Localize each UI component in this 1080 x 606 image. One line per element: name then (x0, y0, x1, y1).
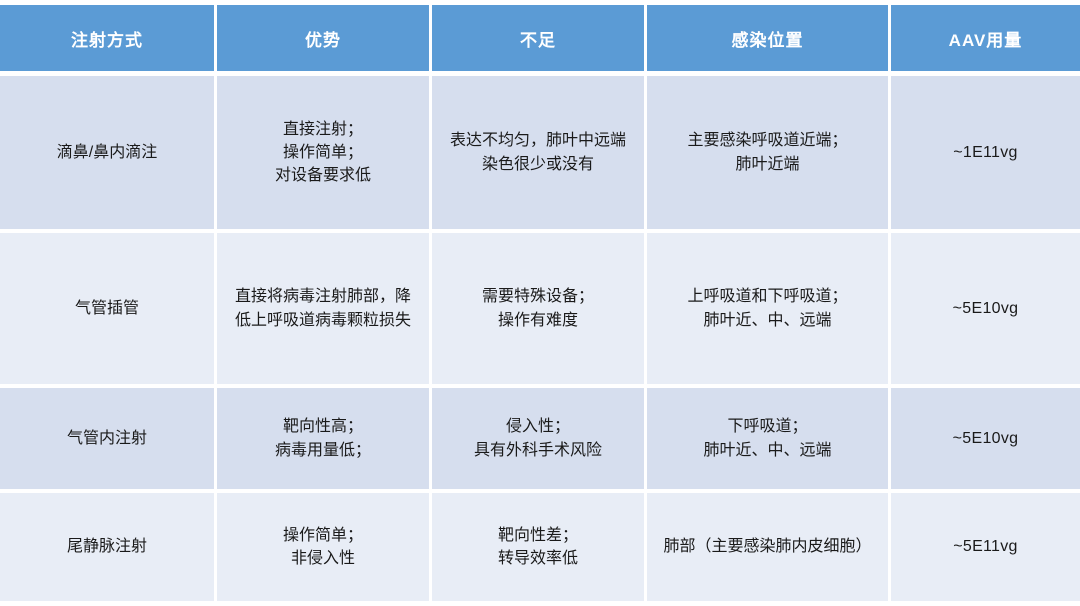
table-row: 气管内注射 靶向性高； 病毒用量低； 侵入性； 具有外科手术风险 下呼吸道； 肺… (0, 388, 1080, 493)
cell-disadvantages: 侵入性； 具有外科手术风险 (432, 388, 647, 493)
cell-infection-site: 下呼吸道； 肺叶近、中、远端 (647, 388, 891, 493)
table-header: 注射方式 优势 不足 感染位置 AAV用量 (0, 5, 1080, 76)
column-header-disadvantages: 不足 (432, 5, 647, 76)
cell-method: 气管插管 (0, 233, 217, 388)
table-header-row: 注射方式 优势 不足 感染位置 AAV用量 (0, 5, 1080, 76)
column-header-aav-dose: AAV用量 (891, 5, 1080, 76)
column-header-infection-site: 感染位置 (647, 5, 891, 76)
table-row: 气管插管 直接将病毒注射肺部，降 低上呼吸道病毒颗粒损失 需要特殊设备； 操作有… (0, 233, 1080, 388)
cell-advantages: 靶向性高； 病毒用量低； (217, 388, 432, 493)
cell-advantages: 直接将病毒注射肺部，降 低上呼吸道病毒颗粒损失 (217, 233, 432, 388)
cell-disadvantages: 需要特殊设备； 操作有难度 (432, 233, 647, 388)
table-row: 尾静脉注射 操作简单； 非侵入性 靶向性差； 转导效率低 肺部（主要感染肺内皮细… (0, 493, 1080, 601)
cell-aav-dose: ~1E11vg (891, 76, 1080, 233)
cell-method: 尾静脉注射 (0, 493, 217, 601)
cell-method: 滴鼻/鼻内滴注 (0, 76, 217, 233)
cell-disadvantages: 表达不均匀，肺叶中远端 染色很少或没有 (432, 76, 647, 233)
cell-advantages: 操作简单； 非侵入性 (217, 493, 432, 601)
cell-aav-dose: ~5E10vg (891, 388, 1080, 493)
cell-disadvantages: 靶向性差； 转导效率低 (432, 493, 647, 601)
cell-method: 气管内注射 (0, 388, 217, 493)
table-body: 滴鼻/鼻内滴注 直接注射； 操作简单； 对设备要求低 表达不均匀，肺叶中远端 染… (0, 76, 1080, 601)
column-header-method: 注射方式 (0, 5, 217, 76)
cell-infection-site: 上呼吸道和下呼吸道； 肺叶近、中、远端 (647, 233, 891, 388)
cell-aav-dose: ~5E10vg (891, 233, 1080, 388)
comparison-table: 注射方式 优势 不足 感染位置 AAV用量 滴鼻/鼻内滴注 直接注射； 操作简单… (0, 5, 1080, 601)
table-row: 滴鼻/鼻内滴注 直接注射； 操作简单； 对设备要求低 表达不均匀，肺叶中远端 染… (0, 76, 1080, 233)
cell-infection-site: 主要感染呼吸道近端； 肺叶近端 (647, 76, 891, 233)
cell-infection-site: 肺部（主要感染肺内皮细胞） (647, 493, 891, 601)
cell-aav-dose: ~5E11vg (891, 493, 1080, 601)
cell-advantages: 直接注射； 操作简单； 对设备要求低 (217, 76, 432, 233)
aav-delivery-comparison-table: 注射方式 优势 不足 感染位置 AAV用量 滴鼻/鼻内滴注 直接注射； 操作简单… (0, 0, 1080, 606)
column-header-advantages: 优势 (217, 5, 432, 76)
